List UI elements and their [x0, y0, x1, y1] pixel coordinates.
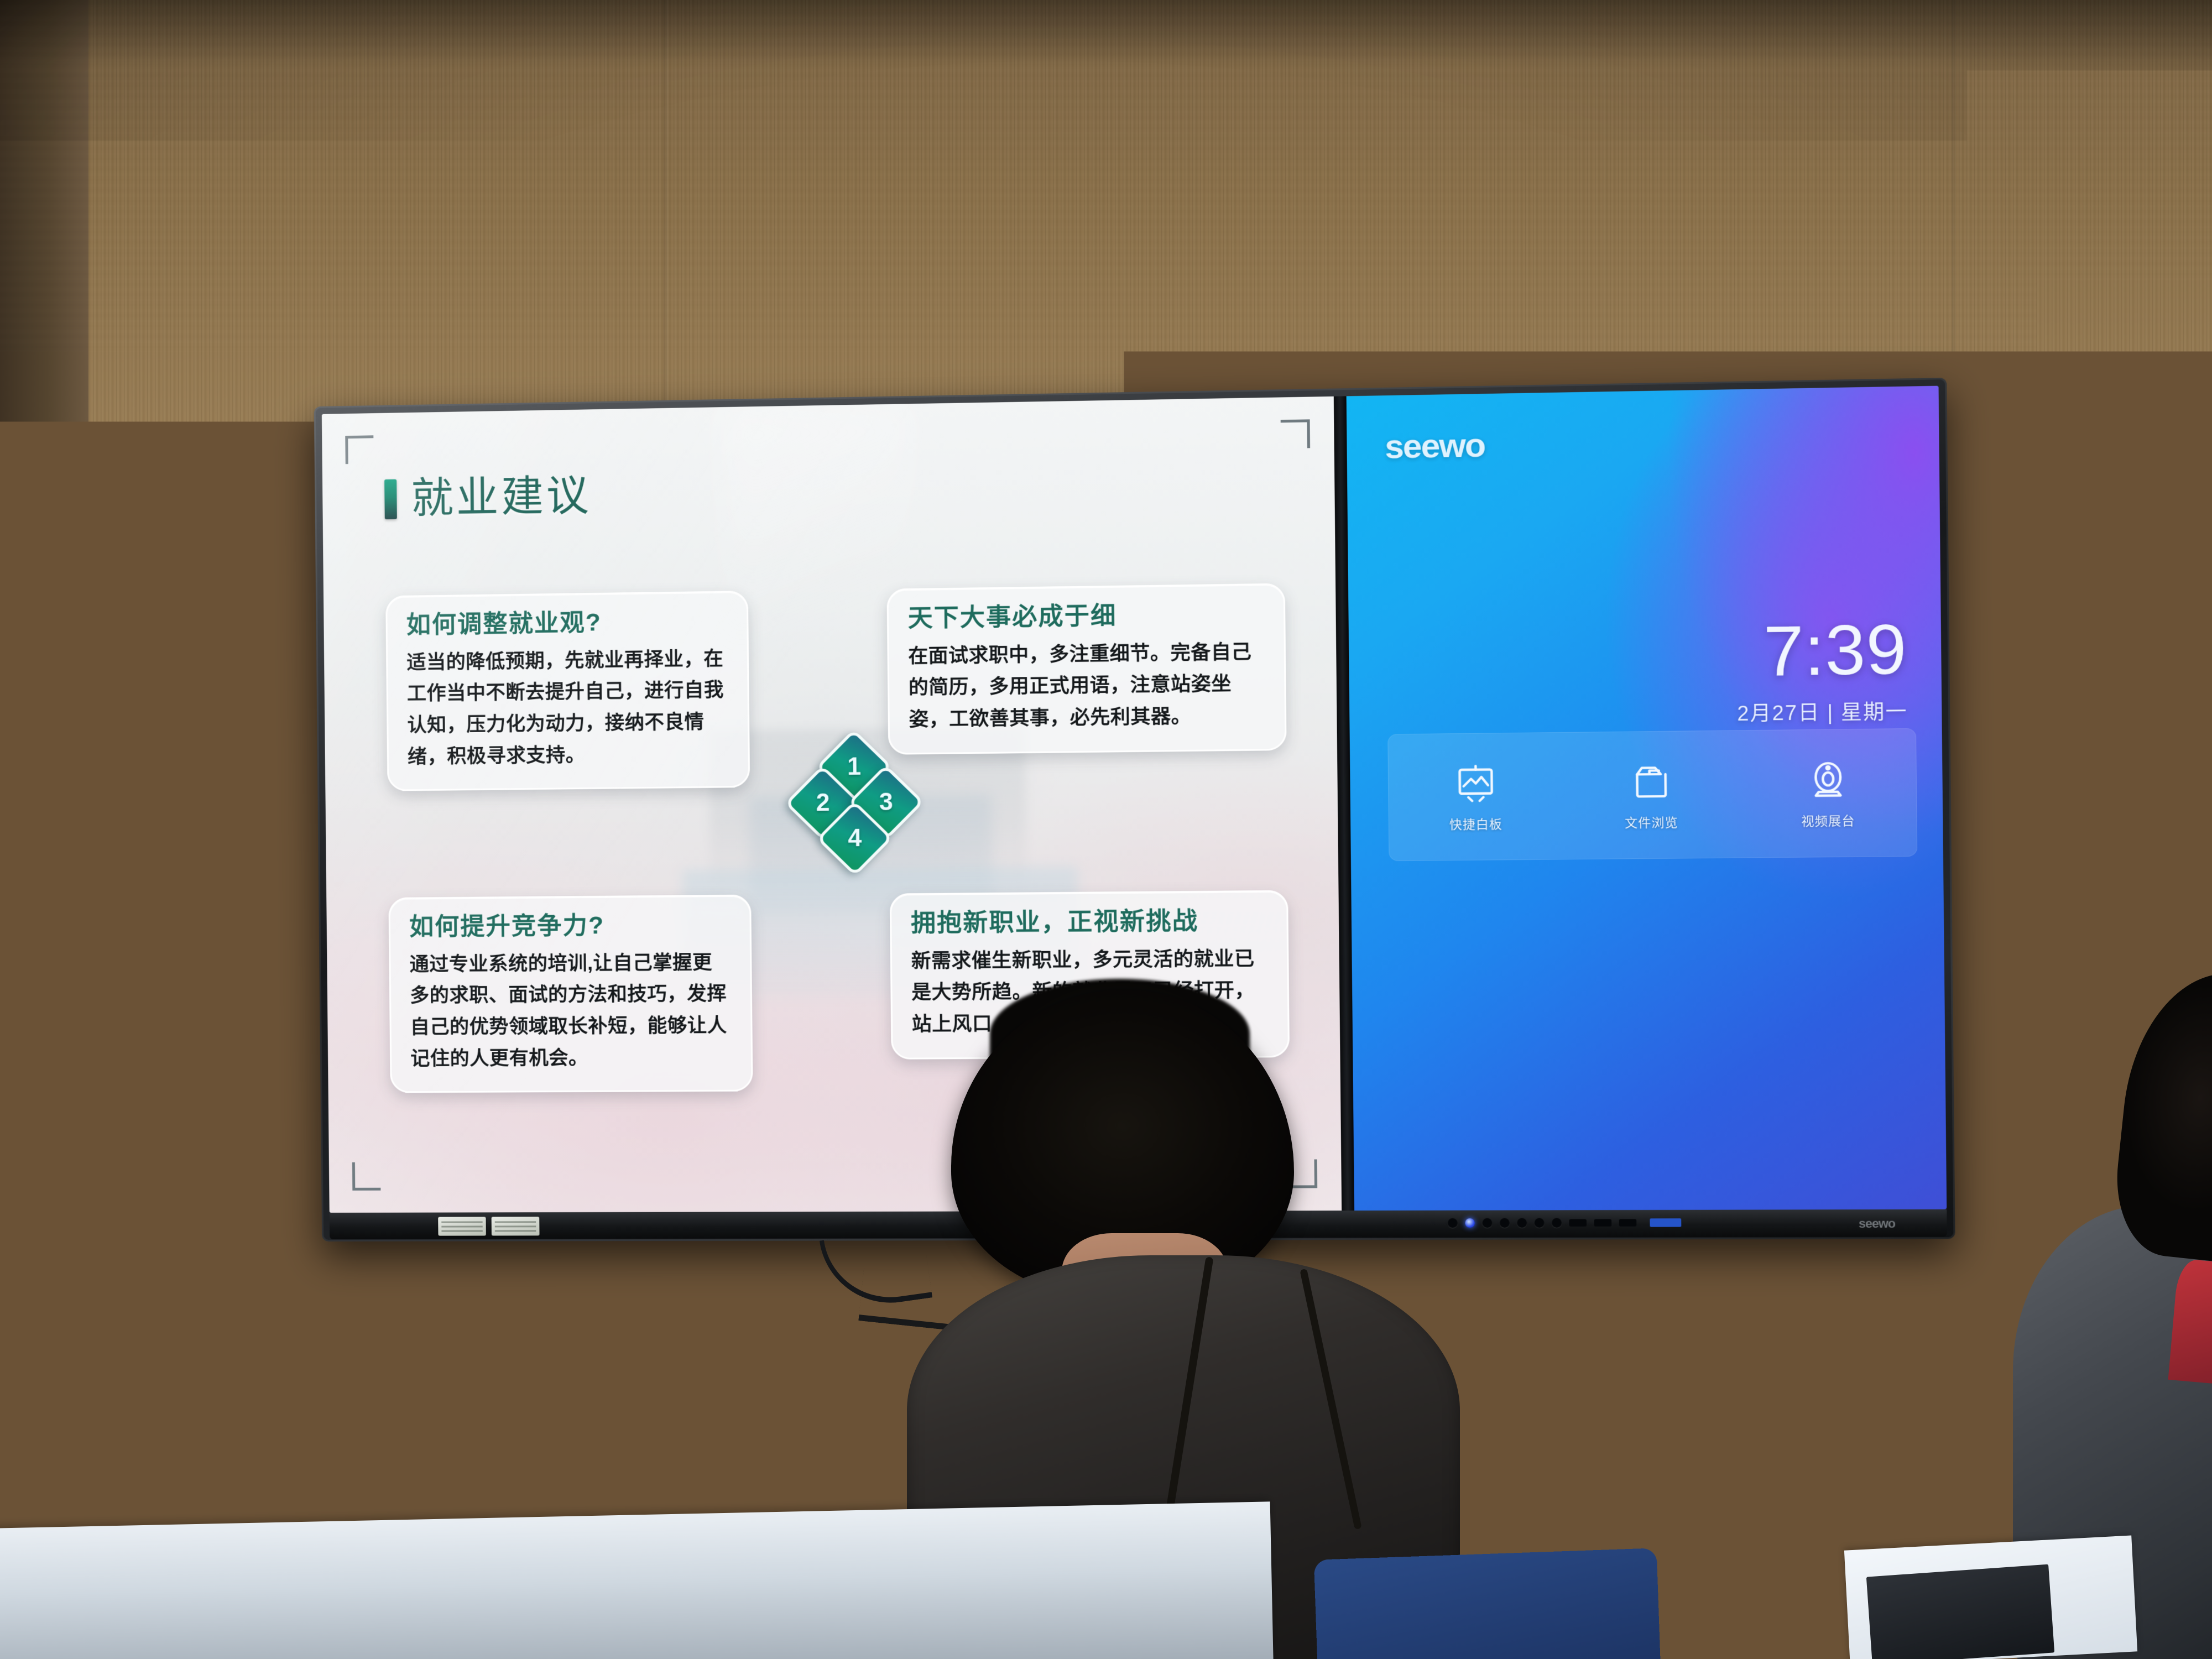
- side-desk: [1797, 1344, 1897, 1427]
- asset-sticker: [438, 1217, 486, 1235]
- diamond-2-label: 2: [816, 789, 830, 817]
- seewo-logo: seewo: [1385, 425, 1485, 466]
- usb-port[interactable]: [1569, 1219, 1587, 1227]
- no-smoking-label-en: No Smoking: [0, 604, 35, 614]
- slide-card-1[interactable]: 如何调整就业观? 适当的降低预期，先就业再择业，在工作当中不断去提升自己，进行自…: [385, 591, 750, 791]
- screenshot-stage: 吸烟 No Smoking: [0, 0, 2212, 1659]
- diamond-number-cluster: 1 2 3 4: [795, 739, 912, 908]
- panel-port-strip[interactable]: [1448, 1218, 1681, 1228]
- diamond-1-label: 1: [847, 753, 861, 781]
- app-dock: 快捷白板 文件浏览: [1387, 728, 1917, 861]
- desk-dark-item: [1866, 1564, 2054, 1659]
- port-dot[interactable]: [1500, 1218, 1510, 1228]
- dock-item-whiteboard[interactable]: 快捷白板: [1432, 761, 1519, 833]
- folder-icon: [1628, 759, 1674, 804]
- hdmi-port[interactable]: [1650, 1218, 1681, 1227]
- clock-time: 7:39: [1736, 614, 1908, 687]
- clock-widget: 7:39 2月27日 | 星期一: [1736, 614, 1908, 727]
- card-2-heading: 天下大事必成于细: [908, 600, 1265, 633]
- usb-port[interactable]: [1594, 1219, 1612, 1227]
- dock-label-files: 文件浏览: [1625, 812, 1678, 831]
- dock-label-whiteboard: 快捷白板: [1449, 814, 1503, 833]
- dock-label-camera: 视频展台: [1801, 811, 1855, 830]
- card-4-heading: 拥抱新职业，正视新挑战: [911, 907, 1267, 938]
- slide-card-2[interactable]: 天下大事必成于细 在面试求职中，多注重细节。完备自己的简历，多用正式用语，注意站…: [886, 583, 1286, 755]
- port-dot[interactable]: [1448, 1218, 1458, 1228]
- no-smoking-sign: 吸烟 No Smoking: [0, 559, 127, 633]
- slide-title: 就业建议: [411, 475, 592, 520]
- power-led-indicator: [1465, 1218, 1475, 1228]
- crop-mark-top-right: [1281, 419, 1310, 448]
- wall-outlet: [10, 935, 76, 982]
- diamond-3-label: 3: [879, 788, 893, 816]
- slide-title-row: 就业建议: [384, 475, 592, 520]
- wall-top-shadow: [0, 0, 2212, 66]
- asset-sticker: [492, 1217, 540, 1235]
- card-3-heading: 如何提升竞争力?: [409, 911, 731, 941]
- no-smoking-label-zh: 吸烟: [0, 572, 49, 591]
- clock-date: 2月27日 | 星期一: [1737, 695, 1908, 727]
- wall-dial-knob[interactable]: [66, 984, 97, 1015]
- slide-card-3[interactable]: 如何提升竞争力? 通过专业系统的培训,让自己掌握更多的求职、面试的方法和技巧，发…: [388, 895, 753, 1093]
- whiteboard-icon: [1453, 761, 1498, 806]
- blue-chair: [1314, 1548, 1661, 1659]
- camera-icon: [1805, 757, 1851, 802]
- diamond-4-label: 4: [848, 825, 862, 853]
- card-3-body: 通过专业系统的培训,让自己掌握更多的求职、面试的方法和技巧，发挥自己的优势领域取…: [409, 947, 732, 1074]
- card-1-heading: 如何调整就业观?: [406, 607, 728, 640]
- port-dot[interactable]: [1483, 1218, 1493, 1228]
- crop-mark-bottom-left: [352, 1162, 381, 1191]
- seewo-home-screen[interactable]: seewo 7:39 2月27日 | 星期一: [1334, 386, 1947, 1211]
- title-accent-bar: [384, 479, 397, 519]
- card-1-body: 适当的降低预期，先就业再择业，在工作当中不断去提升自己，进行自我认知，压力化为动…: [406, 643, 729, 773]
- no-smoking-rule: [0, 597, 48, 599]
- sign-green-accent: [113, 571, 118, 605]
- crop-mark-top-left: [345, 435, 374, 464]
- port-dot[interactable]: [1552, 1218, 1562, 1228]
- port-dot[interactable]: [1517, 1218, 1527, 1228]
- bezel-brand-logo-right: seewo: [1859, 1216, 1895, 1231]
- usb-port[interactable]: [1619, 1219, 1637, 1226]
- card-2-body: 在面试求职中，多注重细节。完备自己的简历，多用正式用语，注意站姿坐姿，工欲善其事…: [908, 636, 1265, 735]
- port-dot[interactable]: [1535, 1218, 1545, 1228]
- dock-item-camera[interactable]: 视频展台: [1784, 757, 1872, 830]
- dock-item-files[interactable]: 文件浏览: [1607, 759, 1695, 831]
